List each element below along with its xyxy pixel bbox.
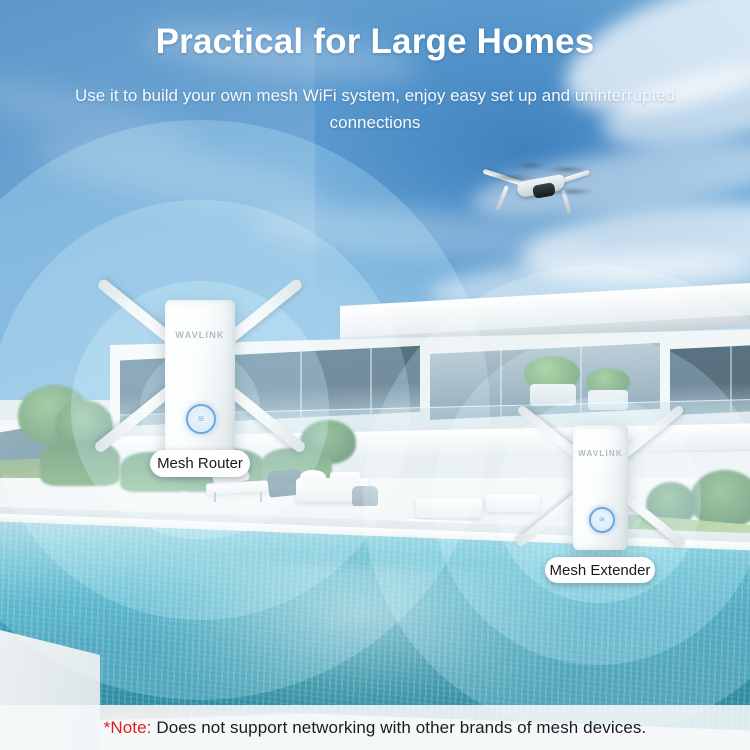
quadcopter-drone-icon xyxy=(487,158,599,214)
patio-sofa xyxy=(416,498,482,518)
patio-chair xyxy=(352,486,378,506)
footer-note: *Note: Does not support networking with … xyxy=(104,718,647,738)
wifi-icon: ≋ xyxy=(591,516,613,524)
mesh-router-device[interactable]: WAVLINK ≋ xyxy=(165,300,235,460)
product-feature-banner: WAVLINK ≋ WAVLINK ≋ Mesh Router Mesh Ext… xyxy=(0,0,750,750)
wavlink-logo: WAVLINK xyxy=(573,449,628,458)
extender-led-indicator: ≋ xyxy=(589,507,615,533)
mesh-extender-label-pill: Mesh Extender xyxy=(545,557,655,583)
sofa-cushion xyxy=(330,472,360,484)
page-title: Practical for Large Homes xyxy=(0,22,750,62)
drone-propeller xyxy=(545,166,589,173)
mesh-router-label-pill: Mesh Router xyxy=(150,450,250,477)
sofa-cushion xyxy=(300,470,326,484)
wavlink-logo: WAVLINK xyxy=(165,330,235,340)
drone-propeller xyxy=(489,174,535,181)
mesh-extender-device[interactable]: WAVLINK ≋ xyxy=(573,425,628,550)
note-marker: *Note: xyxy=(104,718,152,737)
drone-leg xyxy=(495,185,508,211)
pool-water-shimmer xyxy=(0,521,750,731)
tree xyxy=(690,470,750,528)
patio-ottoman xyxy=(486,494,540,512)
router-body xyxy=(165,300,235,460)
mesh-router-label-text: Mesh Router xyxy=(157,455,243,472)
router-led-indicator: ≋ xyxy=(186,404,216,434)
drone-propeller xyxy=(553,188,593,195)
swimming-pool xyxy=(0,521,750,731)
note-body: Does not support networking with other b… xyxy=(152,718,647,737)
mesh-extender-label-text: Mesh Extender xyxy=(550,562,651,579)
drone-propeller xyxy=(511,162,549,169)
page-subtitle: Use it to build your own mesh WiFi syste… xyxy=(75,82,675,136)
footer-note-band: *Note: Does not support networking with … xyxy=(0,705,750,750)
wifi-icon: ≋ xyxy=(188,415,214,424)
